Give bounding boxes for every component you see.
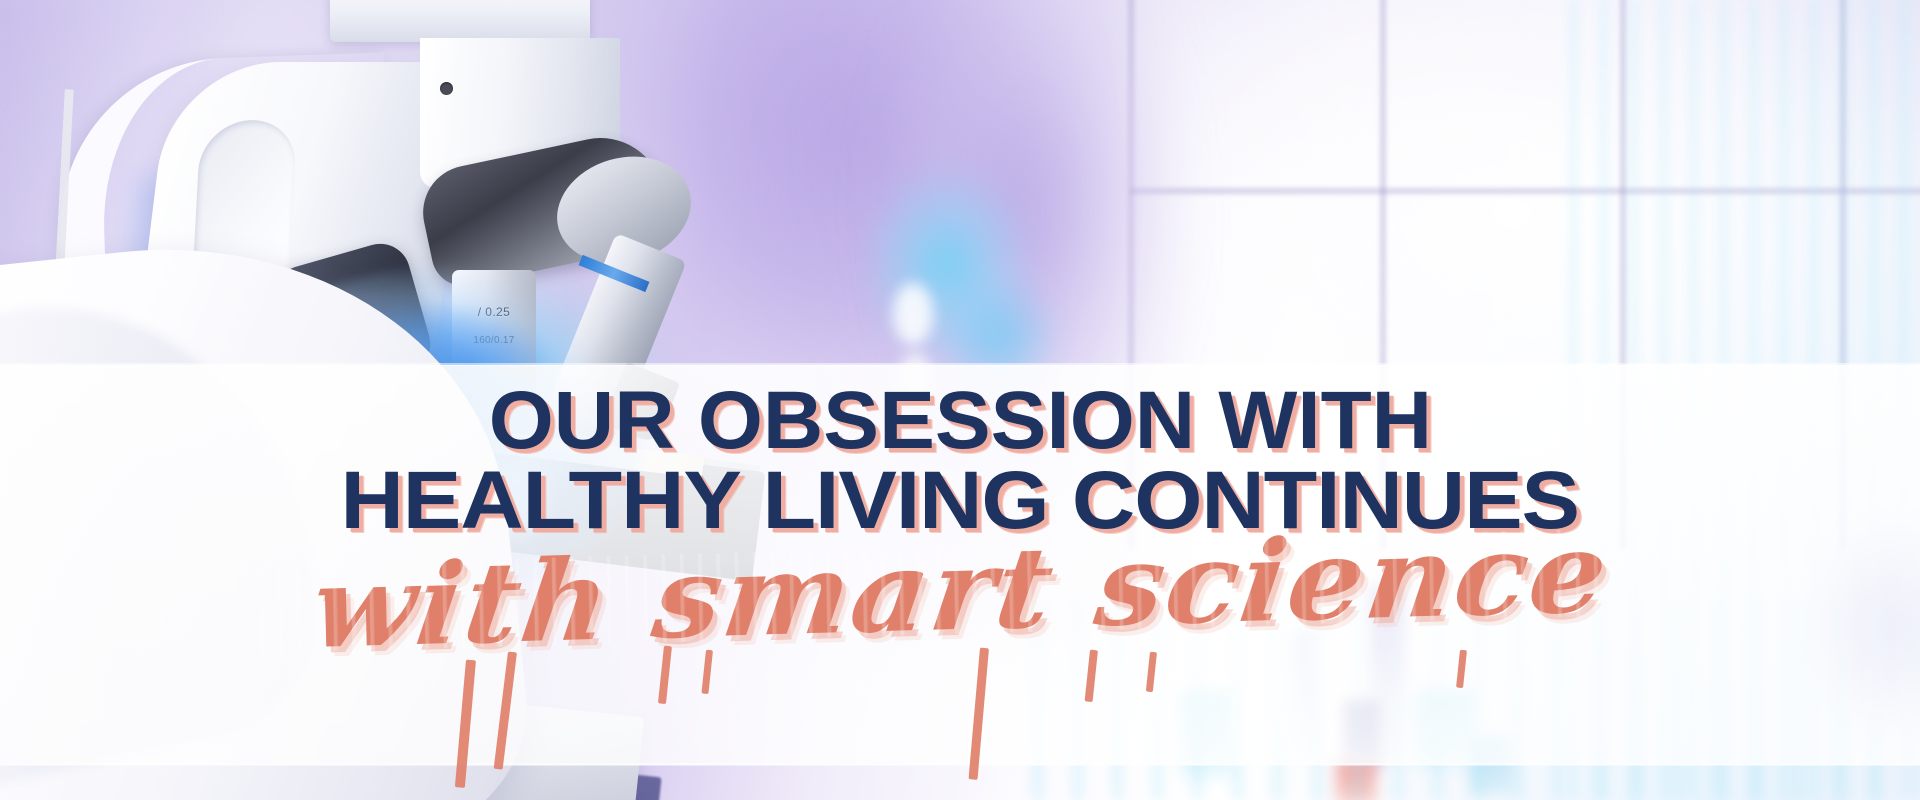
microscope-head-screw (440, 82, 453, 95)
headline-block: OUR OBSESSION WITH HEALTHY LIVING CONTIN… (0, 365, 1920, 765)
headline-script-line: with smart science (305, 517, 1615, 665)
microscope-eyepiece (330, 0, 590, 42)
hero-banner: / 0.25 160/0.17 OUR OBSESSION WITH HEALT… (0, 0, 1920, 800)
headline-line-1: OUR OBSESSION WITH (488, 383, 1431, 458)
id-badge-highlight (893, 283, 933, 345)
